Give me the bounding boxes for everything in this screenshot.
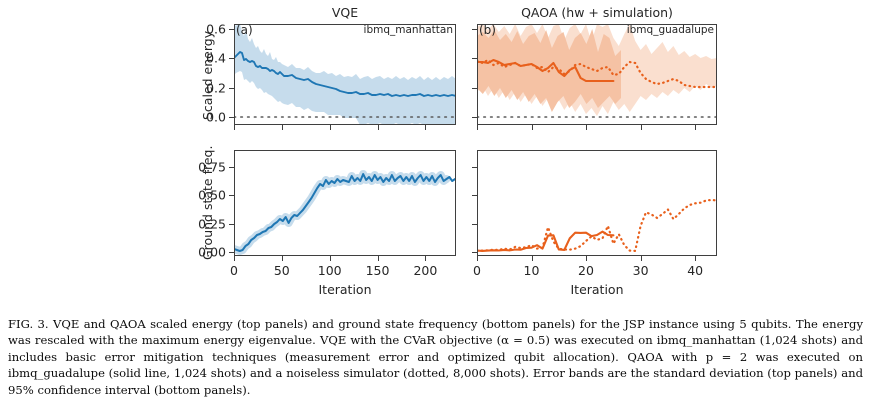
xtick-label: 30	[633, 263, 649, 278]
vqe-scaled-energy-plot	[234, 24, 456, 125]
ytick-mark	[229, 58, 234, 59]
xtick-label: 150	[366, 263, 390, 278]
panel-b-device-tag: ibmq_guadalupe	[627, 24, 714, 36]
yaxis-label-scaled-energy: Scaled energy	[200, 31, 215, 120]
xtick-mark	[532, 125, 533, 130]
xtick-mark	[477, 125, 478, 130]
qaoa-scaled-energy-plot	[477, 24, 717, 125]
xtick-label: 0	[473, 263, 481, 278]
xtick-mark	[532, 256, 533, 261]
vqe-ground-state-freq-plot	[234, 150, 456, 256]
xtick-label: 40	[687, 263, 703, 278]
ytick-label: 0.75	[198, 160, 226, 175]
ytick-mark	[472, 224, 477, 225]
axes-qaoa-ground-state-freq: 0 10 20 30 40 Iteration	[477, 150, 717, 256]
ytick-mark	[472, 88, 477, 89]
panel-a-letter: (a)	[236, 23, 253, 37]
qaoa-ground-state-freq-plot	[477, 150, 717, 256]
xtick-mark	[586, 256, 587, 261]
ytick-label: 0.25	[198, 216, 226, 231]
xtick-label: 200	[413, 263, 437, 278]
ytick-mark	[229, 224, 234, 225]
xtick-label: 100	[318, 263, 342, 278]
ytick-label: 0.00	[198, 245, 226, 260]
xtick-label: 10	[524, 263, 540, 278]
ytick-label: 0.0	[206, 110, 226, 125]
ytick-mark	[229, 117, 234, 118]
ytick-mark	[229, 252, 234, 253]
ytick-label: 0.50	[198, 188, 226, 203]
panel-b-title: QAOA (hw + simulation)	[477, 5, 717, 20]
xtick-mark	[234, 125, 235, 130]
axes-vqe-ground-state-freq: 0.00 0.25 0.50 0.75 0 50 100 150 200 Ite…	[234, 150, 456, 256]
ytick-mark	[472, 195, 477, 196]
xtick-mark	[378, 256, 379, 261]
ytick-mark	[229, 195, 234, 196]
panel-b-letter: (b)	[479, 23, 496, 37]
vqe-ground-state-mean-line	[234, 174, 455, 251]
ytick-mark	[229, 88, 234, 89]
xtick-mark	[425, 256, 426, 261]
xtick-label: 20	[578, 263, 594, 278]
ytick-label: 0.2	[206, 80, 226, 95]
panel-a-device-tag: ibmq_manhattan	[364, 24, 453, 36]
figure-caption-body: VQE and QAOA scaled energy (top panels) …	[8, 317, 863, 397]
plot-region: Scaled energy Ground state freq. VQE (a)…	[0, 0, 871, 300]
axes-qaoa-scaled-energy: QAOA (hw + simulation) (b) ibmq_guadalup…	[477, 24, 717, 125]
ytick-mark	[472, 58, 477, 59]
ytick-mark	[472, 252, 477, 253]
xtick-mark	[330, 125, 331, 130]
ytick-label: 0.6	[206, 21, 226, 36]
xaxis-label-iteration-left: Iteration	[234, 282, 456, 297]
xtick-mark	[641, 125, 642, 130]
ytick-label: 0.4	[206, 51, 226, 66]
axes-vqe-scaled-energy: VQE (a) ibmq_manhattan 0.0 0.2 0.4 0.6	[234, 24, 456, 125]
figure-caption: FIG. 3. VQE and QAOA scaled energy (top …	[8, 316, 863, 398]
ytick-mark	[472, 117, 477, 118]
xtick-mark	[695, 125, 696, 130]
xtick-mark	[695, 256, 696, 261]
xtick-label: 0	[230, 263, 238, 278]
ytick-mark	[229, 167, 234, 168]
vqe-stddev-band	[234, 24, 456, 125]
xtick-mark	[477, 256, 478, 261]
xtick-mark	[330, 256, 331, 261]
xtick-mark	[586, 125, 587, 130]
figure-3: Scaled energy Ground state freq. VQE (a)…	[0, 0, 871, 413]
xtick-mark	[641, 256, 642, 261]
xtick-mark	[282, 256, 283, 261]
qaoa-simulator-ground-state-line	[477, 200, 717, 251]
xtick-mark	[282, 125, 283, 130]
ytick-mark	[472, 167, 477, 168]
xtick-label: 50	[274, 263, 290, 278]
xaxis-label-iteration-right: Iteration	[477, 282, 717, 297]
panel-a-title: VQE	[234, 5, 456, 20]
xtick-mark	[234, 256, 235, 261]
ytick-mark	[472, 29, 477, 30]
xtick-mark	[378, 125, 379, 130]
xtick-mark	[425, 125, 426, 130]
ytick-mark	[229, 29, 234, 30]
figure-caption-label: FIG. 3.	[8, 317, 49, 331]
vqe-confidence-band	[234, 174, 447, 251]
